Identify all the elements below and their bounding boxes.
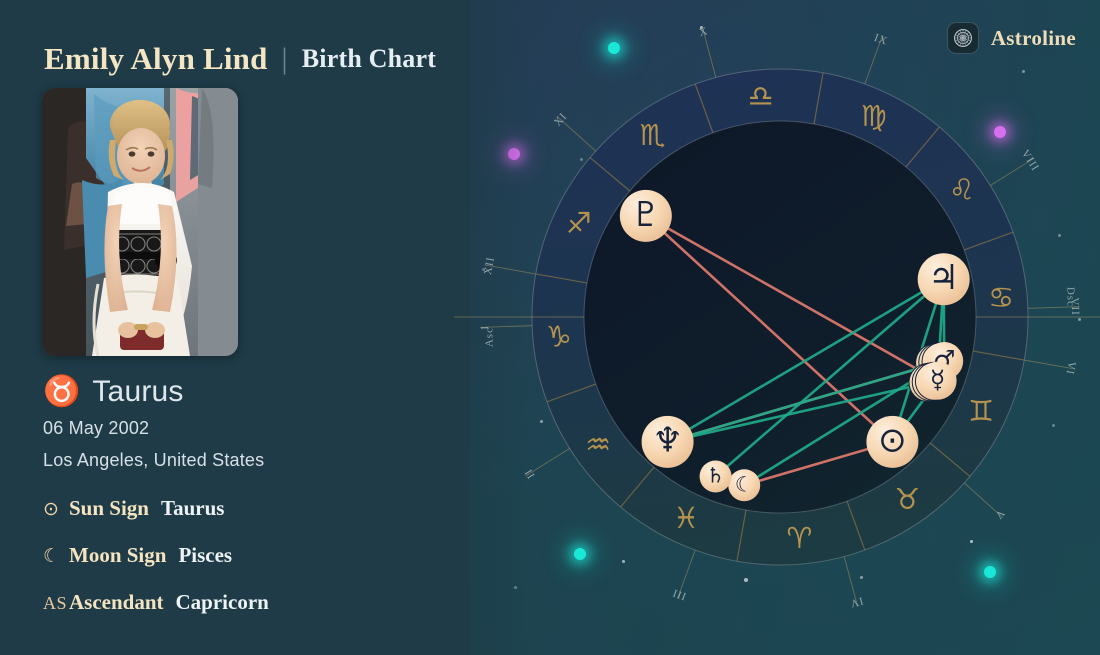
birth-date: 06 May 2002 bbox=[43, 418, 149, 439]
ascendant-row: AS Ascendant Capricorn bbox=[43, 590, 269, 615]
house-numeral-III: III bbox=[670, 586, 687, 602]
zodiac-glyph-pisces: ♓ bbox=[673, 501, 699, 535]
zodiac-glyph-aries: ♈ bbox=[786, 521, 812, 555]
title-separator: | bbox=[282, 42, 288, 76]
sun-sign-heading: ♉ Taurus bbox=[43, 375, 184, 409]
house-numeral-II: II bbox=[522, 466, 537, 480]
house-numeral-VIII: VIII bbox=[1019, 148, 1041, 174]
moon-sign-row: ☾ Moon Sign Pisces bbox=[43, 543, 232, 568]
axis-label-dsc: Dsc bbox=[1064, 287, 1076, 307]
birth-place: Los Angeles, United States bbox=[43, 450, 264, 471]
birth-chart-screen: Emily Alyn Lind | Birth Chart bbox=[0, 0, 1100, 655]
planet-glyph-neptune: ♆ bbox=[652, 421, 683, 461]
house-numeral-XI: XI bbox=[552, 111, 570, 129]
zodiac-glyph-scorpio: ♏ bbox=[640, 118, 666, 152]
moon-icon: ☾ bbox=[43, 545, 69, 568]
ascendant-value: Capricorn bbox=[176, 590, 269, 615]
planet-marker-saturn[interactable]: ♄ bbox=[700, 460, 732, 492]
house-numeral-IX: IX bbox=[872, 32, 889, 48]
zodiac-glyph-cancer: ♋ bbox=[988, 281, 1014, 315]
inner-disc bbox=[584, 121, 976, 513]
sun-sign-label: Sun Sign bbox=[69, 496, 149, 521]
page-title: Emily Alyn Lind | Birth Chart bbox=[44, 41, 436, 77]
zodiac-glyph-sagittarius: ♐ bbox=[566, 206, 592, 240]
moon-sign-value: Pisces bbox=[178, 543, 232, 568]
sun-sign-name: Taurus bbox=[92, 375, 183, 409]
sun-sign-value: Taurus bbox=[161, 496, 224, 521]
sun-icon: ⊙ bbox=[43, 498, 69, 521]
ascendant-icon: AS bbox=[43, 593, 69, 614]
sun-sign-row: ⊙ Sun Sign Taurus bbox=[43, 496, 224, 521]
moon-sign-label: Moon Sign bbox=[69, 543, 166, 568]
natal-chart-wheel[interactable]: ♎♏♐♑♒♓♈♉♊♋♌♍ ♇♃♂☿⊙☾♄♆ IIIIIIIVVVIVIIVIII… bbox=[485, 22, 1075, 612]
planet-marker-pluto[interactable]: ♇ bbox=[620, 190, 672, 242]
planet-glyph-sun: ⊙ bbox=[878, 421, 907, 461]
taurus-icon: ♉ bbox=[43, 377, 80, 407]
planet-glyph-jupiter: ♃ bbox=[928, 258, 959, 298]
avatar bbox=[42, 88, 238, 356]
planet-glyph-mercury: ☿ bbox=[930, 365, 945, 394]
axis-label-asc: Asc bbox=[484, 327, 496, 347]
zodiac-glyph-aquarius: ♒ bbox=[585, 427, 611, 461]
zodiac-glyph-capricorn: ♑ bbox=[546, 319, 572, 353]
planet-glyph-saturn: ♄ bbox=[706, 463, 725, 488]
page-subtitle: Birth Chart bbox=[302, 44, 436, 74]
planet-glyph-pluto: ♇ bbox=[630, 195, 661, 235]
zodiac-glyph-gemini: ♊ bbox=[968, 394, 994, 428]
planet-marker-sun[interactable]: ⊙ bbox=[866, 416, 918, 468]
zodiac-glyph-leo: ♌ bbox=[949, 173, 975, 207]
person-name: Emily Alyn Lind bbox=[44, 41, 268, 77]
zodiac-glyph-taurus: ♉ bbox=[894, 482, 920, 516]
house-numeral-XII: XII bbox=[482, 256, 497, 276]
planet-marker-mercury[interactable]: ☿ bbox=[909, 362, 957, 402]
planet-marker-neptune[interactable]: ♆ bbox=[642, 416, 694, 468]
ascendant-label: Ascendant bbox=[69, 590, 164, 615]
zodiac-glyph-virgo: ♍ bbox=[861, 99, 887, 133]
planet-marker-jupiter[interactable]: ♃ bbox=[918, 253, 970, 305]
house-numeral-X: X bbox=[698, 25, 710, 39]
planet-glyph-moon: ☾ bbox=[735, 471, 754, 496]
star bbox=[1078, 318, 1081, 321]
house-numeral-VI: VI bbox=[1063, 360, 1077, 375]
planet-marker-moon[interactable]: ☾ bbox=[728, 469, 760, 501]
zodiac-glyph-libra: ♎ bbox=[748, 79, 774, 113]
house-numeral-IV: IV bbox=[848, 594, 864, 609]
